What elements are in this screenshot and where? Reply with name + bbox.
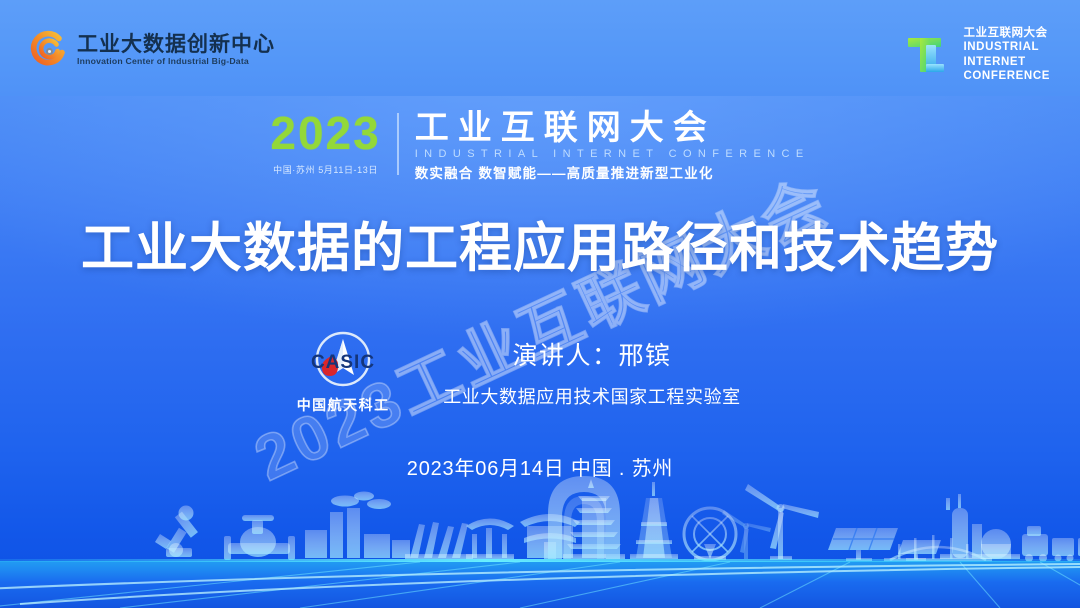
horizon-glow: [0, 559, 1080, 562]
casic-logo-cn: 中国航天科工: [297, 395, 390, 415]
conference-logo-en-2: INTERNET: [963, 55, 1050, 69]
svg-text:CASIC: CASIC: [311, 352, 375, 373]
casic-logo: CASIC 中国航天科工: [279, 330, 407, 415]
conference-slogan: 数实融合 数智赋能——高质量推进新型工业化: [415, 167, 810, 181]
conference-place-date: 中国·苏州 5月11日-13日: [273, 163, 378, 176]
conference-logo-en-3: CONFERENCE: [963, 69, 1050, 83]
orange-spiral-logo-icon: [28, 30, 68, 70]
page-title: 工业大数据的工程应用路径和技术趋势: [0, 218, 1080, 279]
chinese-pavilion-icon: [466, 519, 514, 560]
wind-turbine-icon: [722, 484, 819, 560]
tv-tower-icon: [630, 482, 678, 559]
presentation-slide: 工业大数据创新中心 Innovation Center of Industria…: [0, 0, 1080, 608]
conference-en-title: INDUSTRIAL INTERNET CONFERENCE: [415, 149, 810, 160]
conference-logo-en-1: INDUSTRIAL: [963, 40, 1050, 54]
speaker-section: CASIC 中国航天科工 演讲人：邢镔 工业大数据应用技术国家工程实验室: [0, 330, 1080, 415]
speaker-affiliation: 工业大数据应用技术国家工程实验室: [443, 383, 741, 409]
solar-panel-icon: [828, 528, 941, 561]
conference-logo-cn: 工业互联网大会: [963, 26, 1050, 40]
conference-title-block: 2023 中国·苏州 5月11日-13日 工业互联网大会 INDUSTRIAL …: [0, 110, 1080, 181]
oil-derrick-icon: [405, 522, 473, 559]
conference-cn-title: 工业互联网大会: [415, 110, 810, 146]
speaker-name: 演讲人：邢镔: [512, 336, 671, 372]
conference-brand-logo: 工业互联网大会 INDUSTRIAL INTERNET CONFERENCE: [904, 26, 1050, 84]
green-t-conference-logo-icon: [904, 31, 952, 79]
robot-arm-icon: [155, 506, 198, 558]
factory-smokestack-icon: [305, 492, 410, 559]
freight-train-icon: [1022, 526, 1080, 562]
conference-year: 2023: [270, 112, 380, 156]
skyline-silhouettes: [155, 476, 1080, 562]
city-industry-skyline: [0, 468, 1080, 608]
conference-divider: [397, 113, 399, 175]
industrial-valve-icon: [224, 515, 295, 560]
casic-rocket-logo-icon: CASIC: [298, 330, 388, 392]
innovation-center-en-name: Innovation Center of Industrial Big-Data: [77, 57, 279, 66]
innovation-center-logo: 工业大数据创新中心 Innovation Center of Industria…: [28, 30, 275, 70]
innovation-center-cn-name: 工业大数据创新中心: [77, 34, 275, 55]
watermark-text: 2023工业互联网大会: [237, 152, 842, 499]
ground-plane: [0, 561, 1080, 608]
